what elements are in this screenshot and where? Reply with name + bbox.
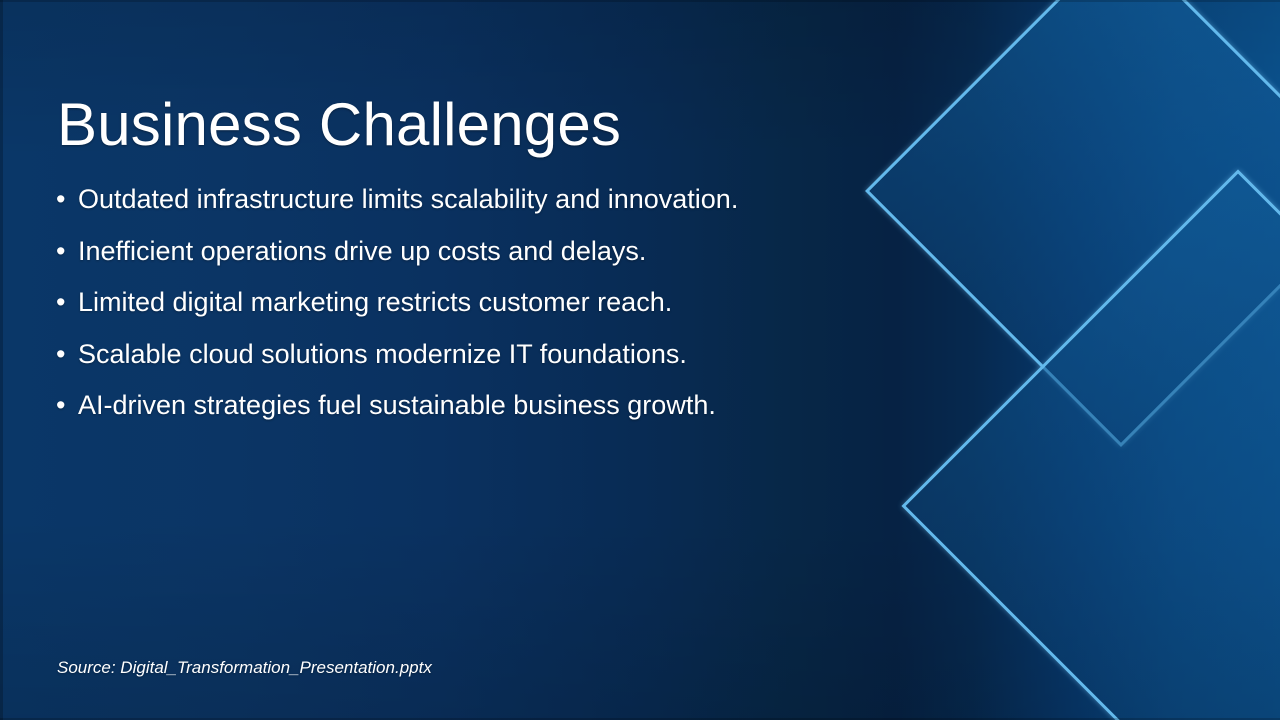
page-title: Business Challenges bbox=[57, 92, 621, 158]
presentation-slide: Business Challenges • Outdated infrastru… bbox=[0, 0, 1280, 720]
list-item-label: Outdated infrastructure limits scalabili… bbox=[78, 184, 738, 214]
list-item-label: Inefficient operations drive up costs an… bbox=[78, 236, 646, 266]
list-item: • AI-driven strategies fuel sustainable … bbox=[56, 392, 916, 444]
list-item-label: Scalable cloud solutions modernize IT fo… bbox=[78, 339, 687, 369]
list-item: • Inefficient operations drive up costs … bbox=[56, 238, 916, 290]
list-item: • Scalable cloud solutions modernize IT … bbox=[56, 341, 916, 393]
bullet-marker-icon: • bbox=[56, 289, 65, 316]
diamond-lower-shape bbox=[901, 169, 1280, 720]
source-note: Source: Digital_Transformation_Presentat… bbox=[57, 658, 432, 678]
diamond-upper-shape bbox=[865, 0, 1280, 447]
bullet-list: • Outdated infrastructure limits scalabi… bbox=[56, 186, 916, 444]
list-item-label: AI-driven strategies fuel sustainable bu… bbox=[78, 390, 716, 420]
bullet-marker-icon: • bbox=[56, 341, 65, 368]
list-item: • Outdated infrastructure limits scalabi… bbox=[56, 186, 916, 238]
list-item-label: Limited digital marketing restricts cust… bbox=[78, 287, 672, 317]
bullet-marker-icon: • bbox=[56, 186, 65, 213]
list-item: • Limited digital marketing restricts cu… bbox=[56, 289, 916, 341]
bullet-marker-icon: • bbox=[56, 392, 65, 419]
bullet-marker-icon: • bbox=[56, 238, 65, 265]
